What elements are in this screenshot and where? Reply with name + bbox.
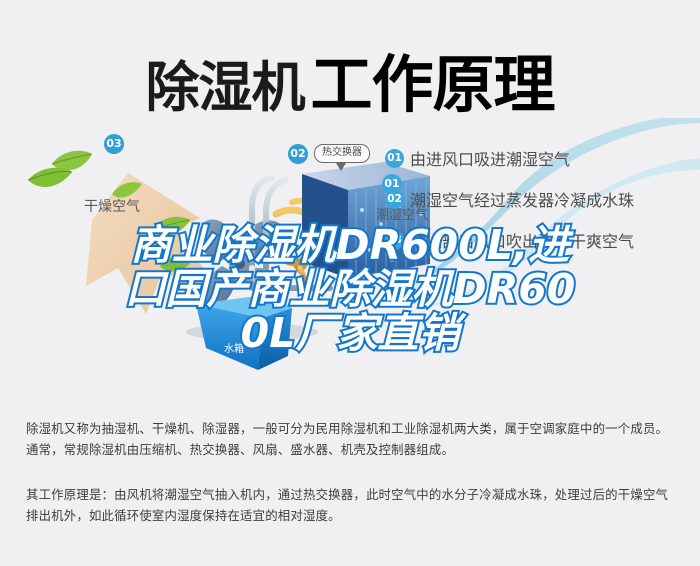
step-item: 02 潮湿空气经过蒸发器冷凝成水珠: [385, 184, 695, 214]
body-paragraph-2: 其工作原理是：由风机将潮湿空气抽入机内，通过热交换器，此时空气中的水分子冷凝成水…: [26, 484, 676, 526]
step-item: 03 从上部出风口吹出清新干爽空气: [385, 225, 695, 255]
dry-air-arrow: [86, 173, 205, 314]
step-number-03: 03: [385, 231, 404, 250]
body-copy-block-2: 其工作原理是：由风机将潮湿空气抽入机内，通过热交换器，此时空气中的水分子冷凝成水…: [26, 484, 676, 532]
page-root: 除湿机工作原理: [0, 0, 700, 566]
step-text-01: 由进风口吸进潮湿空气: [410, 146, 570, 170]
fan-assembly: [199, 219, 287, 306]
body-copy-block-1: 除湿机又称为抽湿机、干燥机、除湿器，一般可分为民用除湿机和工业除湿机两大类，属于…: [26, 418, 676, 466]
step-text-03: 从上部出风口吹出清新干爽空气: [410, 228, 634, 252]
step-text-02: 潮湿空气经过蒸发器冷凝成水珠: [410, 187, 634, 211]
water-tank: [196, 294, 292, 370]
step-list: 01 由进风口吸进潮湿空气 02 潮湿空气经过蒸发器冷凝成水珠 03 从上部出风…: [385, 143, 695, 266]
diagram-label-water-tank: 水箱: [224, 340, 244, 355]
diagram-label-dry-air: 干燥空气: [84, 196, 140, 216]
page-title-primary: 除湿机: [145, 56, 304, 119]
step-item: 01 由进风口吸进潮湿空气: [385, 143, 695, 173]
diagram-badge-03: 03: [104, 134, 124, 154]
diagram-callout-heat-exchanger: 热交换器: [314, 144, 370, 163]
step-number-01: 01: [385, 149, 404, 168]
page-title: 除湿机工作原理: [0, 34, 700, 124]
diagram-badge-02: 02: [288, 144, 308, 164]
page-title-secondary: 工作原理: [310, 48, 554, 121]
callout-tail-icon: [336, 163, 346, 171]
step-number-02: 02: [385, 190, 404, 209]
body-paragraph-1: 除湿机又称为抽湿机、干燥机、除湿器，一般可分为民用除湿机和工业除湿机两大类，属于…: [26, 418, 676, 460]
